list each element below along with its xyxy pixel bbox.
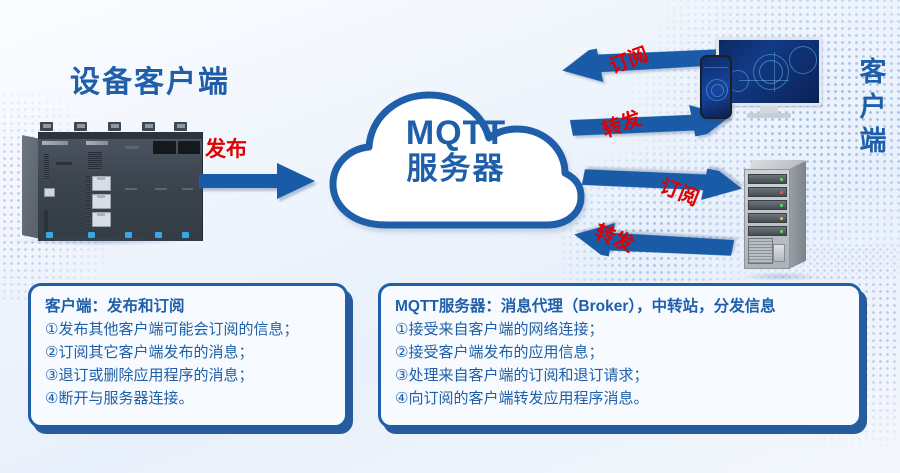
- publish-arrow-icon: [199, 163, 315, 199]
- server-rack-image: [744, 160, 818, 276]
- subscribe-forward-arrows-bottom: [569, 146, 746, 280]
- mqtt-server-cloud: [325, 85, 587, 235]
- plc-device-image: [22, 122, 202, 244]
- monitor-base: [747, 113, 791, 118]
- server-info-title: MQTT服务器：消息代理（Broker），中转站，分发信息: [395, 297, 859, 316]
- server-shadow: [740, 272, 822, 281]
- client-title-vertical: 客 户 端: [853, 55, 893, 159]
- diagram-canvas: 设备客户端: [0, 0, 900, 473]
- client-title-char-1: 客: [853, 55, 893, 90]
- server-info-box: MQTT服务器：消息代理（Broker），中转站，分发信息 ①接受来自客户端的网…: [378, 283, 862, 428]
- client-title-char-2: 户: [853, 90, 893, 125]
- client-info-line-3: ③退订或删除应用程序的消息；: [45, 365, 345, 388]
- server-info-line-1: ①接受来自客户端的网络连接；: [395, 319, 859, 342]
- monitor-neck: [760, 106, 778, 113]
- client-info-line-4: ④断开与服务器连接。: [45, 388, 345, 411]
- client-info-line-2: ②订阅其它客户端发布的消息；: [45, 342, 345, 365]
- server-info-line-4: ④向订阅的客户端转发应用程序消息。: [395, 388, 859, 411]
- client-info-line-1: ①发布其他客户端可能会订阅的信息；: [45, 319, 345, 342]
- client-info-box: 客户端：发布和订阅 ①发布其他客户端可能会订阅的信息； ②订阅其它客户端发布的消…: [28, 283, 348, 428]
- server-info-line-2: ②接受客户端发布的应用信息；: [395, 342, 859, 365]
- phone-screen: [702, 57, 730, 117]
- server-info-line-3: ③处理来自客户端的订阅和退订请求；: [395, 365, 859, 388]
- plc-shadow: [12, 236, 187, 246]
- client-title-char-3: 端: [853, 124, 893, 159]
- client-info-title: 客户端：发布和订阅: [45, 297, 345, 316]
- mobile-phone-image: [700, 55, 732, 119]
- device-client-title: 设备客户端: [70, 57, 230, 101]
- publish-label: 发布: [205, 133, 247, 163]
